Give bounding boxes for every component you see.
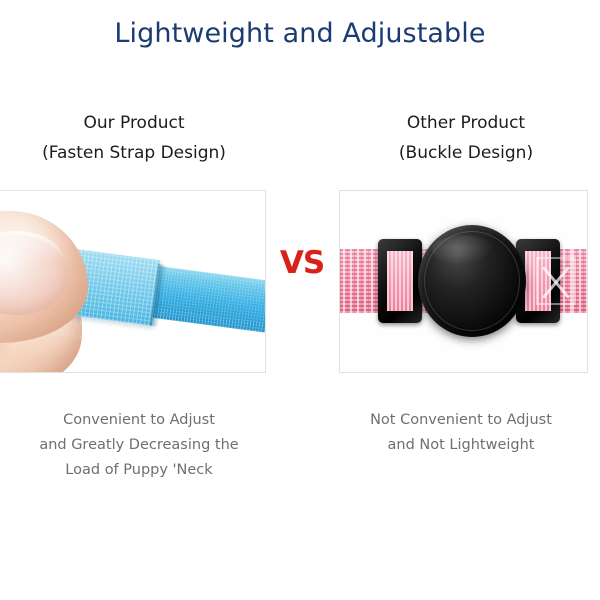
- right-column-heading: Other Product (Buckle Design): [332, 108, 600, 168]
- right-heading-line2: (Buckle Design): [332, 138, 600, 168]
- other-product-caption: Not Convenient to Adjust and Not Lightwe…: [330, 408, 592, 458]
- left-heading-line2: (Fasten Strap Design): [0, 138, 268, 168]
- infographic-page: Lightweight and Adjustable Our Product (…: [0, 0, 600, 600]
- pink-collar-buckle-photo: [340, 191, 587, 372]
- our-product-photo-panel: [0, 190, 266, 373]
- slider-left-webbing-window: [387, 251, 413, 311]
- our-caption-line3: Load of Puppy 'Neck: [8, 458, 270, 483]
- page-title: Lightweight and Adjustable: [0, 18, 600, 49]
- buckle-disc-highlight: [432, 235, 494, 265]
- left-column-heading: Our Product (Fasten Strap Design): [0, 108, 268, 168]
- bartack-stitch-x: [536, 257, 576, 305]
- other-caption-line2: and Not Lightweight: [330, 433, 592, 458]
- other-caption-line1: Not Convenient to Adjust: [330, 408, 592, 433]
- other-product-photo-panel: [339, 190, 588, 373]
- right-heading-line1: Other Product: [407, 113, 525, 133]
- our-product-caption: Convenient to Adjust and Greatly Decreas…: [8, 408, 270, 483]
- left-heading-line1: Our Product: [83, 113, 184, 133]
- our-caption-line2: and Greatly Decreasing the: [8, 433, 270, 458]
- vs-badge: VS: [268, 245, 336, 281]
- our-caption-line1: Convenient to Adjust: [8, 408, 270, 433]
- blue-velcro-strap-photo: [0, 191, 265, 372]
